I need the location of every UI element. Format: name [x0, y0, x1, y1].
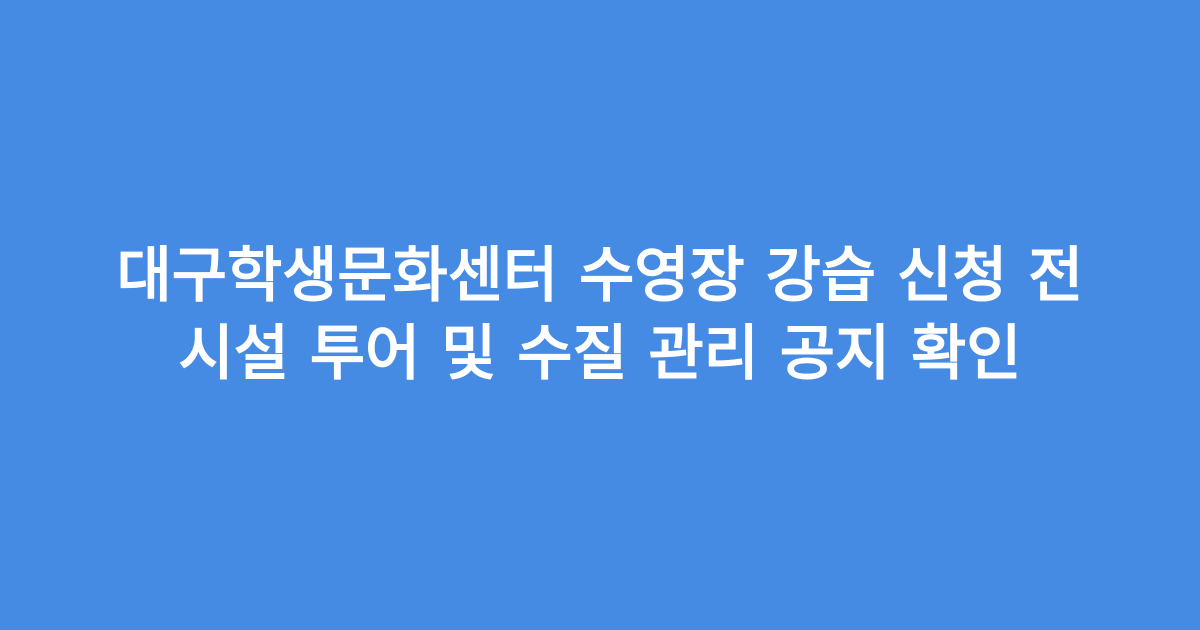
- og-image-card: 대구학생문화센터 수영장 강습 신청 전 시설 투어 및 수질 관리 공지 확인: [0, 0, 1200, 630]
- page-title: 대구학생문화센터 수영장 강습 신청 전 시설 투어 및 수질 관리 공지 확인: [80, 237, 1120, 393]
- title-block: 대구학생문화센터 수영장 강습 신청 전 시설 투어 및 수질 관리 공지 확인: [50, 237, 1150, 393]
